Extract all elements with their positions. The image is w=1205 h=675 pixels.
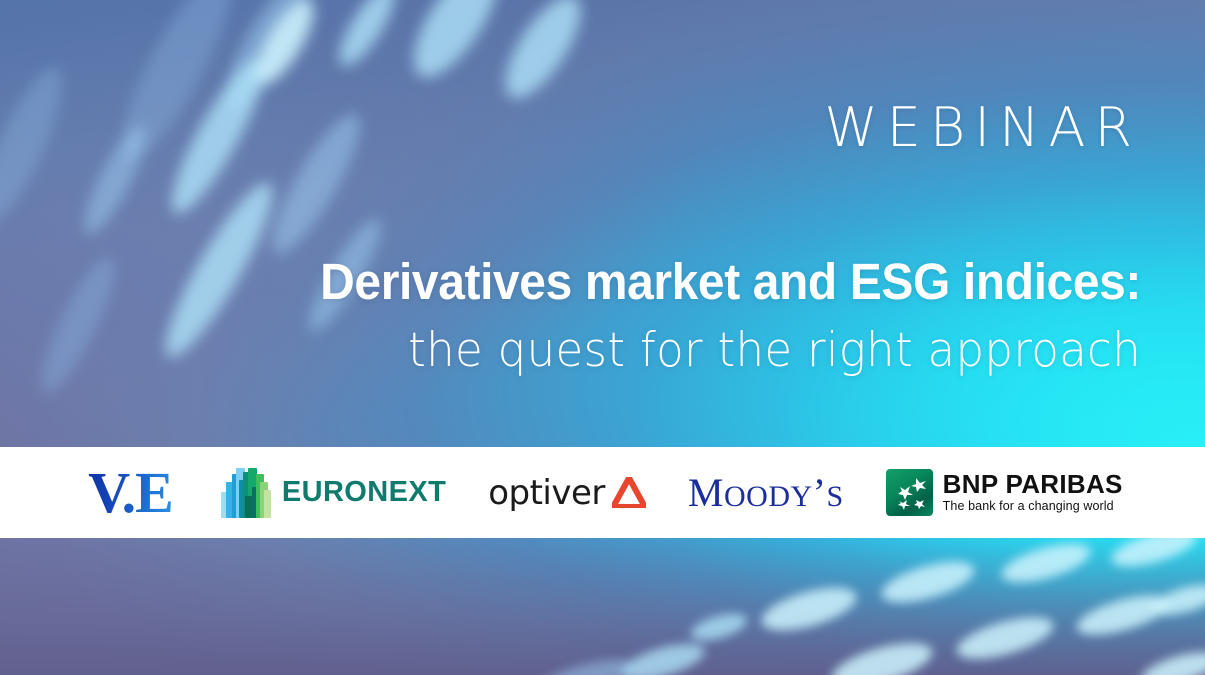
euronext-mosaic-icon: [221, 468, 271, 518]
bnp-text-block: BNP PARIBAS The bank for a changing worl…: [943, 471, 1123, 514]
optiver-wordmark: optiver: [488, 473, 605, 513]
partner-logo-bar: V.E EURONEXT optiver: [0, 447, 1205, 538]
euronext-wordmark: EURONEXT: [282, 476, 446, 509]
page-subtitle: the quest for the right approach: [46, 312, 1141, 390]
logo-euronext[interactable]: EURONEXT: [221, 464, 446, 522]
logo-ve[interactable]: V.E: [82, 464, 179, 522]
bnp-wordmark: BNP PARIBAS: [943, 471, 1123, 498]
logo-optiver[interactable]: optiver: [488, 464, 646, 522]
webinar-banner: WEBINAR Derivatives market and ESG indic…: [0, 0, 1205, 675]
bnp-stars-icon: [886, 469, 933, 516]
optiver-delta-icon: [612, 477, 646, 508]
logo-ve-text: V.E: [82, 464, 179, 522]
title-block: Derivatives market and ESG indices: the …: [0, 252, 1141, 390]
moodys-wordmark: MOODY’S: [688, 473, 844, 513]
kicker-webinar: WEBINAR: [824, 96, 1141, 159]
page-title: Derivatives market and ESG indices:: [68, 252, 1141, 312]
logo-bnp-paribas[interactable]: BNP PARIBAS The bank for a changing worl…: [886, 464, 1123, 522]
bnp-tagline: The bank for a changing world: [943, 499, 1123, 514]
logo-moodys[interactable]: MOODY’S: [688, 464, 844, 522]
